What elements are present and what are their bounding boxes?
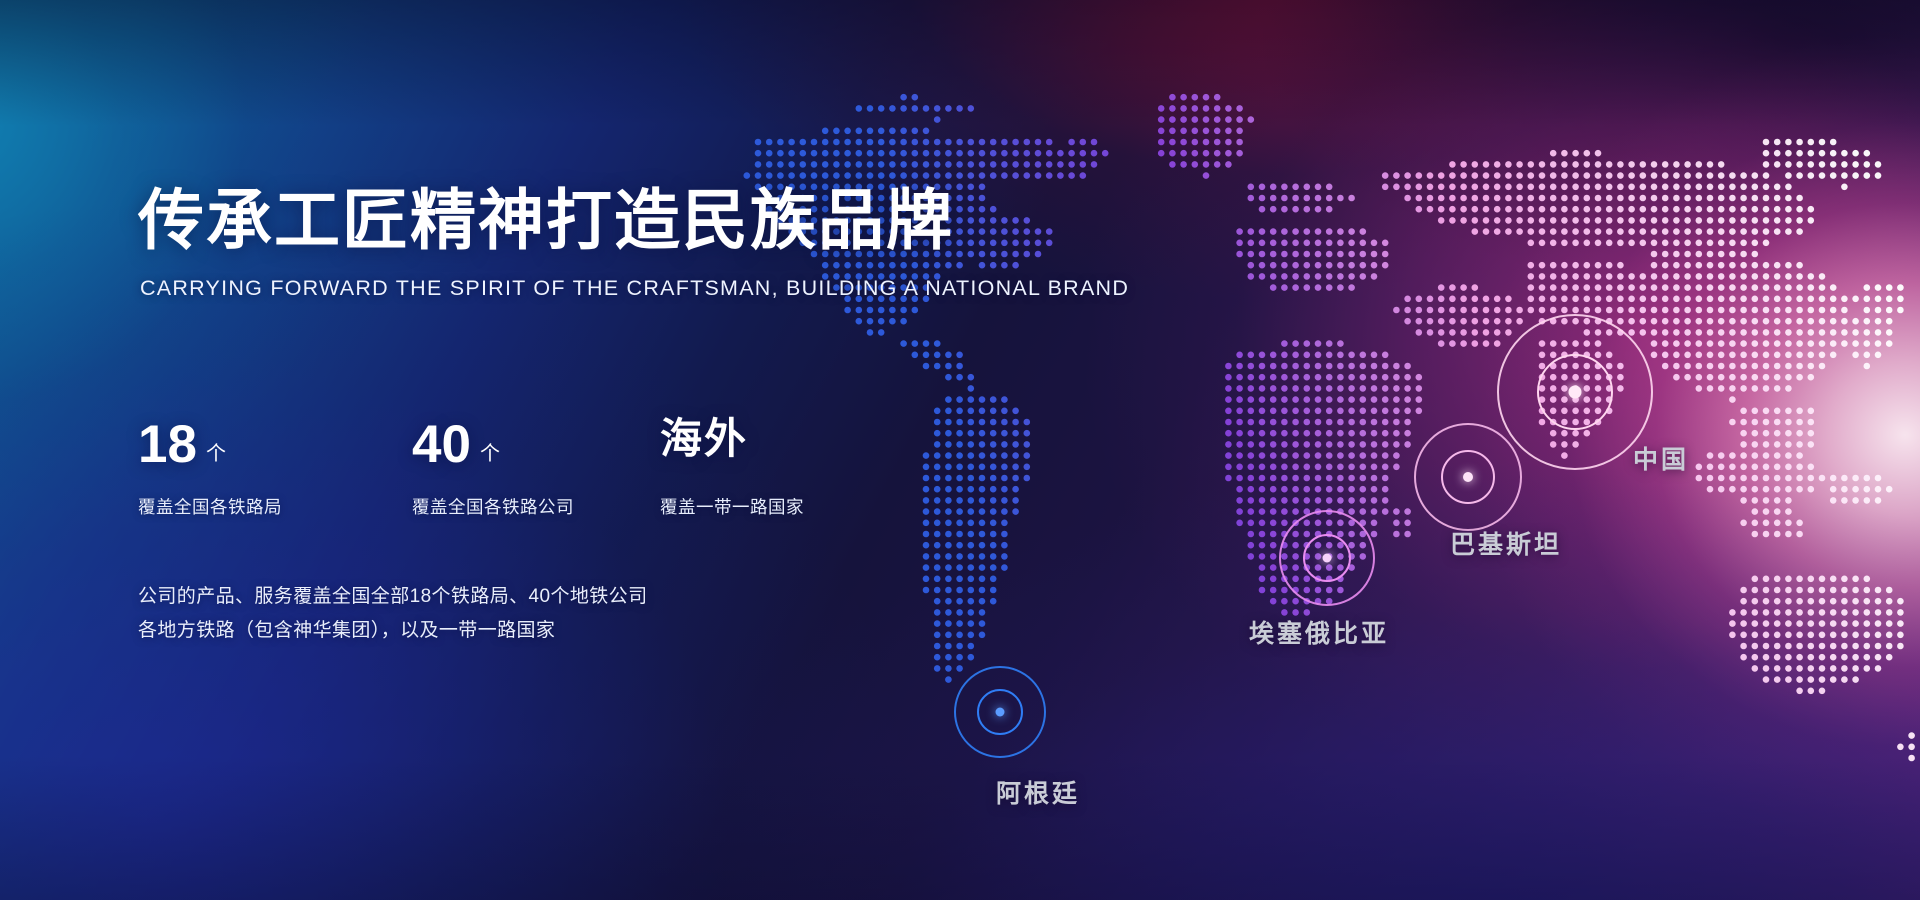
stat-number: 海外 [660, 418, 748, 460]
stat-value-group: 海外 [660, 418, 900, 480]
page-title: 传承工匠精神打造民族品牌 [138, 186, 998, 256]
stat-description: 覆盖一带一路国家 [660, 494, 900, 519]
banner-stage: 传承工匠精神打造民族品牌 CARRYING FORWARD THE SPIRIT… [0, 0, 1920, 900]
description-block: 公司的产品、服务覆盖全国全部18个铁路局、40个地铁公司 各地方铁路（包含神华集… [138, 580, 647, 648]
stat-item-overseas: 海外 覆盖一带一路国家 [660, 418, 900, 519]
stat-unit: 个 [206, 437, 226, 466]
stats-row: 18 个 覆盖全国各铁路局 40 个 覆盖全国各铁路公司 海外 覆盖一带一路国家 [138, 418, 900, 519]
description-line-2: 各地方铁路（包含神华集团），以及一带一路国家 [138, 614, 647, 648]
stat-description: 覆盖全国各铁路局 [138, 494, 412, 519]
headline-block: 传承工匠精神打造民族品牌 CARRYING FORWARD THE SPIRIT… [138, 186, 998, 301]
stat-item-railway-bureaus: 18 个 覆盖全国各铁路局 [138, 418, 412, 519]
stat-unit: 个 [480, 437, 500, 466]
stat-value-group: 18 个 [138, 418, 412, 480]
stat-number: 18 [138, 418, 197, 471]
page-subtitle: CARRYING FORWARD THE SPIRIT OF THE CRAFT… [140, 276, 998, 301]
description-line-1: 公司的产品、服务覆盖全国全部18个铁路局、40个地铁公司 [138, 580, 647, 614]
stat-item-railway-companies: 40 个 覆盖全国各铁路公司 [412, 418, 660, 519]
stat-value-group: 40 个 [412, 418, 660, 480]
stat-description: 覆盖全国各铁路公司 [412, 494, 660, 519]
stat-number: 40 [412, 418, 471, 471]
